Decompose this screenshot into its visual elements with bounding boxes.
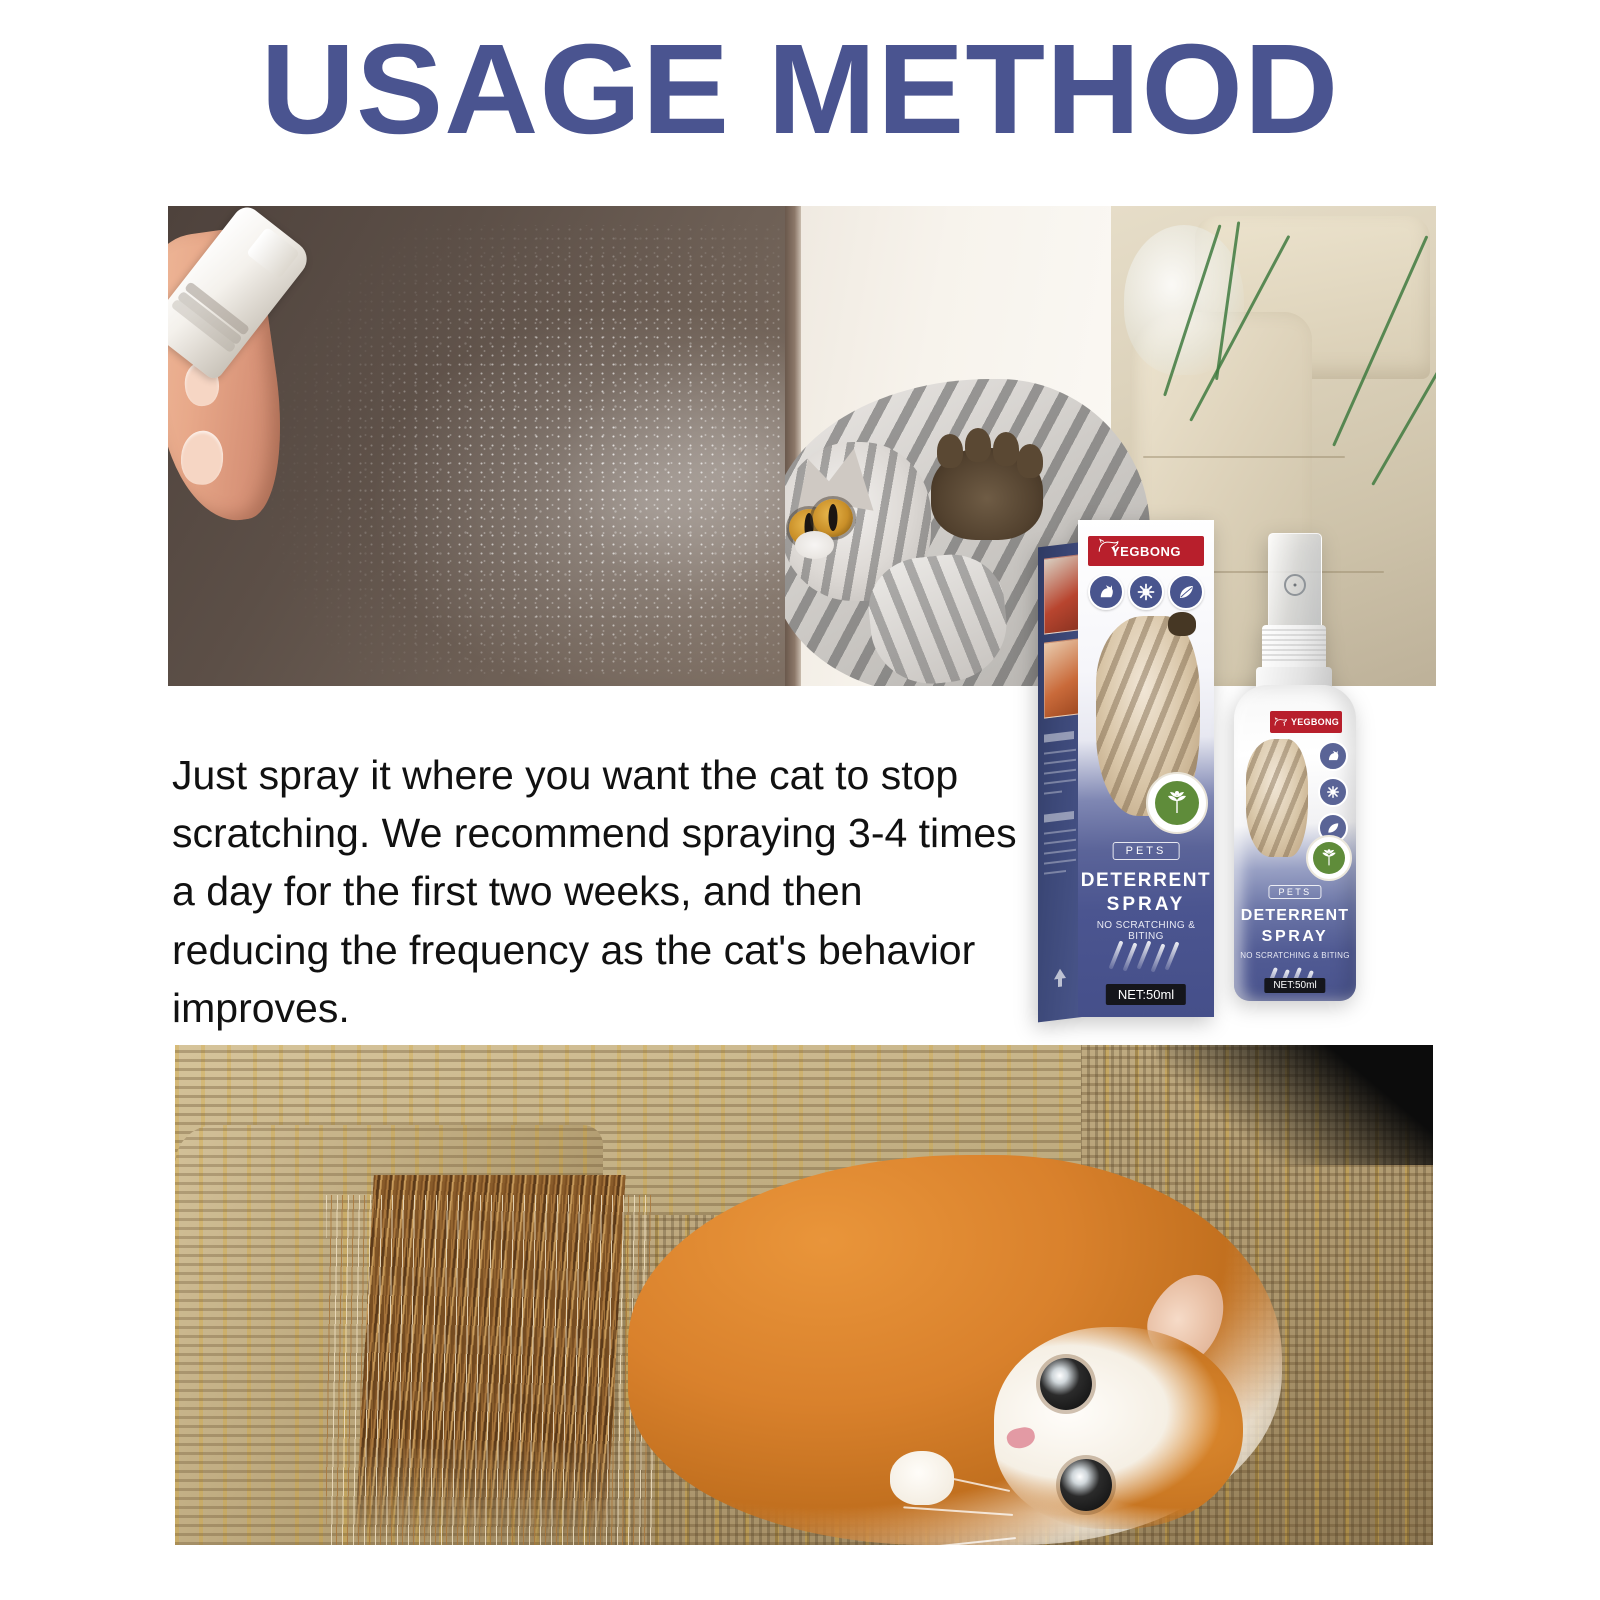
recycle-icon <box>1046 963 1074 996</box>
bottle-collar-ridges <box>1262 629 1326 663</box>
side-fineprint-line <box>1044 859 1076 865</box>
claw-mark <box>1165 941 1180 970</box>
tree-icon <box>1162 788 1192 818</box>
product-tagline: NO SCRATCHING & BITING <box>1078 920 1214 942</box>
cat-muzzle <box>795 531 834 560</box>
product-box: YEGBONG <box>1038 520 1214 1017</box>
orange-cat <box>628 1155 1282 1545</box>
feature-icon-row <box>1088 574 1204 610</box>
claw-marks <box>1112 940 1186 974</box>
side-thumbnail <box>1044 638 1080 718</box>
cat-toe <box>993 432 1019 466</box>
claw-mark <box>1151 943 1166 972</box>
cat-foreleg <box>864 549 1012 686</box>
cat-whisker <box>916 1537 1016 1545</box>
cat-toe <box>937 434 963 468</box>
bottle-cap <box>1268 533 1322 631</box>
bottle-body: YEGBONG <box>1234 685 1356 1001</box>
cat-silhouette-icon <box>1318 741 1348 771</box>
claw-mark <box>1137 940 1152 969</box>
cat-silhouette-icon <box>1088 574 1124 610</box>
cat-toe <box>965 428 991 462</box>
side-heading-block <box>1044 731 1074 743</box>
side-fineprint-line <box>1044 749 1076 755</box>
side-fineprint-line <box>1044 829 1076 835</box>
page-title: USAGE METHOD <box>0 26 1600 154</box>
bottle-product-tagline: NO SCRATCHING & BITING <box>1234 951 1356 960</box>
box-side-panel <box>1038 542 1082 1022</box>
side-fineprint-line <box>1044 849 1076 855</box>
side-fineprint-line <box>1044 790 1062 794</box>
plant-badge-inner <box>1155 781 1199 825</box>
bottle-product-name-line1: DETERRENT <box>1234 907 1356 925</box>
bottle-feature-icons <box>1318 741 1348 843</box>
bottle-plant-extract-badge <box>1306 835 1352 881</box>
bottle-product-category: PETS <box>1268 885 1321 899</box>
cap-vent-icon <box>1284 574 1306 596</box>
brand-logo: YEGBONG <box>1088 536 1204 566</box>
cat-logo-icon <box>1273 716 1289 728</box>
side-fineprint-line <box>1044 759 1076 765</box>
bottle-brand-logo: YEGBONG <box>1270 711 1342 733</box>
side-heading-block <box>1044 811 1074 823</box>
product-category: PETS <box>1113 842 1180 860</box>
dark-background-corner <box>1156 1045 1433 1165</box>
usage-instructions-text: Just spray it where you want the cat to … <box>172 746 1022 1037</box>
scratched-armchair-photo <box>175 1045 1433 1545</box>
spray-application-photo <box>168 206 785 686</box>
bottle-cat-illustration <box>1246 739 1308 857</box>
burst-glyph <box>1137 583 1155 601</box>
side-fineprint-line <box>1044 870 1066 875</box>
bottle-net-volume-label: NET:50ml <box>1264 978 1325 993</box>
side-fineprint-line <box>1044 839 1076 845</box>
burst-icon <box>1128 574 1164 610</box>
cat-paw <box>890 1451 954 1505</box>
fingernail <box>179 429 225 486</box>
product-shot: YEGBONG <box>1020 505 1440 1025</box>
product-name-line2: SPRAY <box>1078 894 1214 916</box>
burst-icon <box>1318 777 1348 807</box>
leaf-glyph <box>1177 583 1195 601</box>
shredded-fabric-threads <box>326 1195 653 1545</box>
cat-silhouette-glyph <box>1097 583 1115 601</box>
cat-logo-icon <box>1096 538 1122 554</box>
side-thumbnail <box>1044 554 1080 634</box>
leaf-glyph <box>1326 821 1340 835</box>
sofa-seam <box>1143 456 1345 458</box>
side-fineprint-line <box>1044 779 1076 785</box>
product-name-line1: DETERRENT <box>1078 870 1214 892</box>
burst-glyph <box>1326 785 1340 799</box>
cat-whisker <box>903 1506 1013 1516</box>
infographic-page: USAGE METHOD <box>0 0 1600 1600</box>
tree-icon <box>1318 847 1340 869</box>
bottle-plant-badge-inner <box>1313 842 1345 874</box>
spray-bottle: YEGBONG <box>1226 533 1366 1003</box>
box-cat-paw <box>1168 612 1196 636</box>
net-volume-label: NET:50ml <box>1106 984 1186 1005</box>
cat-toe <box>1017 444 1043 478</box>
spray-mist <box>267 225 785 676</box>
claw-mark <box>1109 940 1124 969</box>
box-front-panel: YEGBONG <box>1078 520 1214 1017</box>
cat-silhouette-glyph <box>1326 749 1340 763</box>
claw-mark <box>1123 942 1138 971</box>
bottle-product-name-line2: SPRAY <box>1234 928 1356 946</box>
cat-eye <box>1060 1459 1112 1511</box>
bottle-brand-name: YEGBONG <box>1291 717 1339 727</box>
cat-eye <box>1040 1358 1092 1410</box>
side-fineprint-line <box>1044 769 1076 775</box>
plant-extract-badge <box>1146 772 1208 834</box>
leaf-icon <box>1168 574 1204 610</box>
